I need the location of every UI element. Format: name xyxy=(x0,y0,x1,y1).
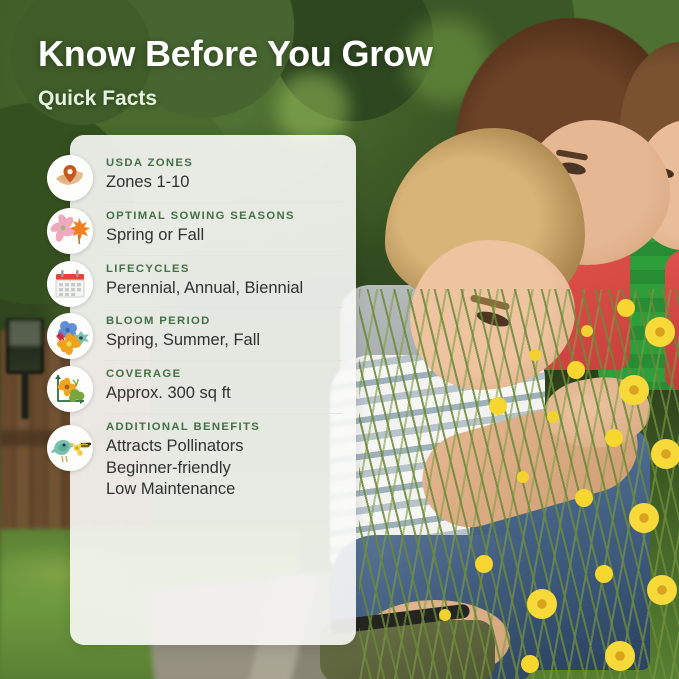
flower xyxy=(645,317,675,347)
flower xyxy=(619,375,649,405)
fact-row-optimal-sowing-seasons: OPTIMAL SOWING SEASONS Spring or Fall xyxy=(70,202,356,255)
flower xyxy=(581,325,593,337)
fact-value: Spring or Fall xyxy=(106,225,338,247)
flower xyxy=(629,503,659,533)
calendar-icon xyxy=(47,261,93,307)
fact-value-line: Spring, Summer, Fall xyxy=(106,330,338,352)
fact-label: OPTIMAL SOWING SEASONS xyxy=(106,210,338,222)
fact-value: Zones 1-10 xyxy=(106,172,338,194)
fact-value-line: Spring or Fall xyxy=(106,225,338,247)
fact-row-coverage: COVERAGE Approx. 300 sq ft xyxy=(70,360,356,413)
flower xyxy=(605,641,635,671)
flower xyxy=(647,575,677,605)
fact-row-bloom-period: BLOOM PERIOD Spring, Summer, Fall xyxy=(70,307,356,360)
flower xyxy=(517,471,529,483)
fact-row-lifecycles: LIFECYCLES Perennial, Annual, Biennial xyxy=(70,255,356,308)
fact-value: Perennial, Annual, Biennial xyxy=(106,278,338,300)
flower xyxy=(529,349,541,361)
flower xyxy=(595,565,613,583)
blossom-maple-leaf-icon xyxy=(47,208,93,254)
flower xyxy=(617,299,635,317)
flower-bouquet-icon xyxy=(47,313,93,359)
yellow-flower-bed xyxy=(359,289,679,679)
facts-list: USDA ZONES Zones 1-10 xyxy=(70,135,356,645)
flower xyxy=(605,429,623,447)
fact-value: Spring, Summer, Fall xyxy=(106,330,338,352)
fact-value-line: Perennial, Annual, Biennial xyxy=(106,278,338,300)
flower xyxy=(521,655,539,673)
fact-value-line: Zones 1-10 xyxy=(106,172,338,194)
flower xyxy=(527,589,557,619)
flower xyxy=(567,361,585,379)
fact-row-additional-benefits: ADDITIONAL BENEFITS Attracts Pollinators… xyxy=(70,413,356,509)
flower xyxy=(439,609,451,621)
flower xyxy=(547,411,559,423)
flower-stems xyxy=(359,289,679,679)
flower xyxy=(489,397,507,415)
usda-map-pin-icon xyxy=(47,155,93,201)
quick-facts-card: USDA ZONES Zones 1-10 xyxy=(70,135,356,645)
poster-canvas: Know Before You Grow Quick Facts USDA ZO… xyxy=(0,0,679,679)
lamp-glass xyxy=(9,320,41,346)
fact-label: ADDITIONAL BENEFITS xyxy=(106,421,338,433)
flower xyxy=(475,555,493,573)
fact-value-line: Beginner-friendly xyxy=(106,458,338,480)
fact-value-line: Low Maintenance xyxy=(106,479,338,501)
fact-value: Attracts Pollinators Beginner-friendly L… xyxy=(106,436,338,501)
fact-value-line: Attracts Pollinators xyxy=(106,436,338,458)
bird-bee-icon xyxy=(47,425,93,471)
flower xyxy=(651,439,679,469)
fact-value: Approx. 300 sq ft xyxy=(106,383,338,405)
fact-row-usda-zones: USDA ZONES Zones 1-10 xyxy=(70,149,356,202)
flower xyxy=(575,489,593,507)
coverage-chart-icon xyxy=(47,366,93,412)
fact-label: COVERAGE xyxy=(106,368,338,380)
fact-label: LIFECYCLES xyxy=(106,263,338,275)
page-title: Know Before You Grow xyxy=(38,33,433,75)
page-subtitle: Quick Facts xyxy=(38,87,157,111)
fact-label: USDA ZONES xyxy=(106,157,338,169)
fact-value-line: Approx. 300 sq ft xyxy=(106,383,338,405)
fact-label: BLOOM PERIOD xyxy=(106,315,338,327)
